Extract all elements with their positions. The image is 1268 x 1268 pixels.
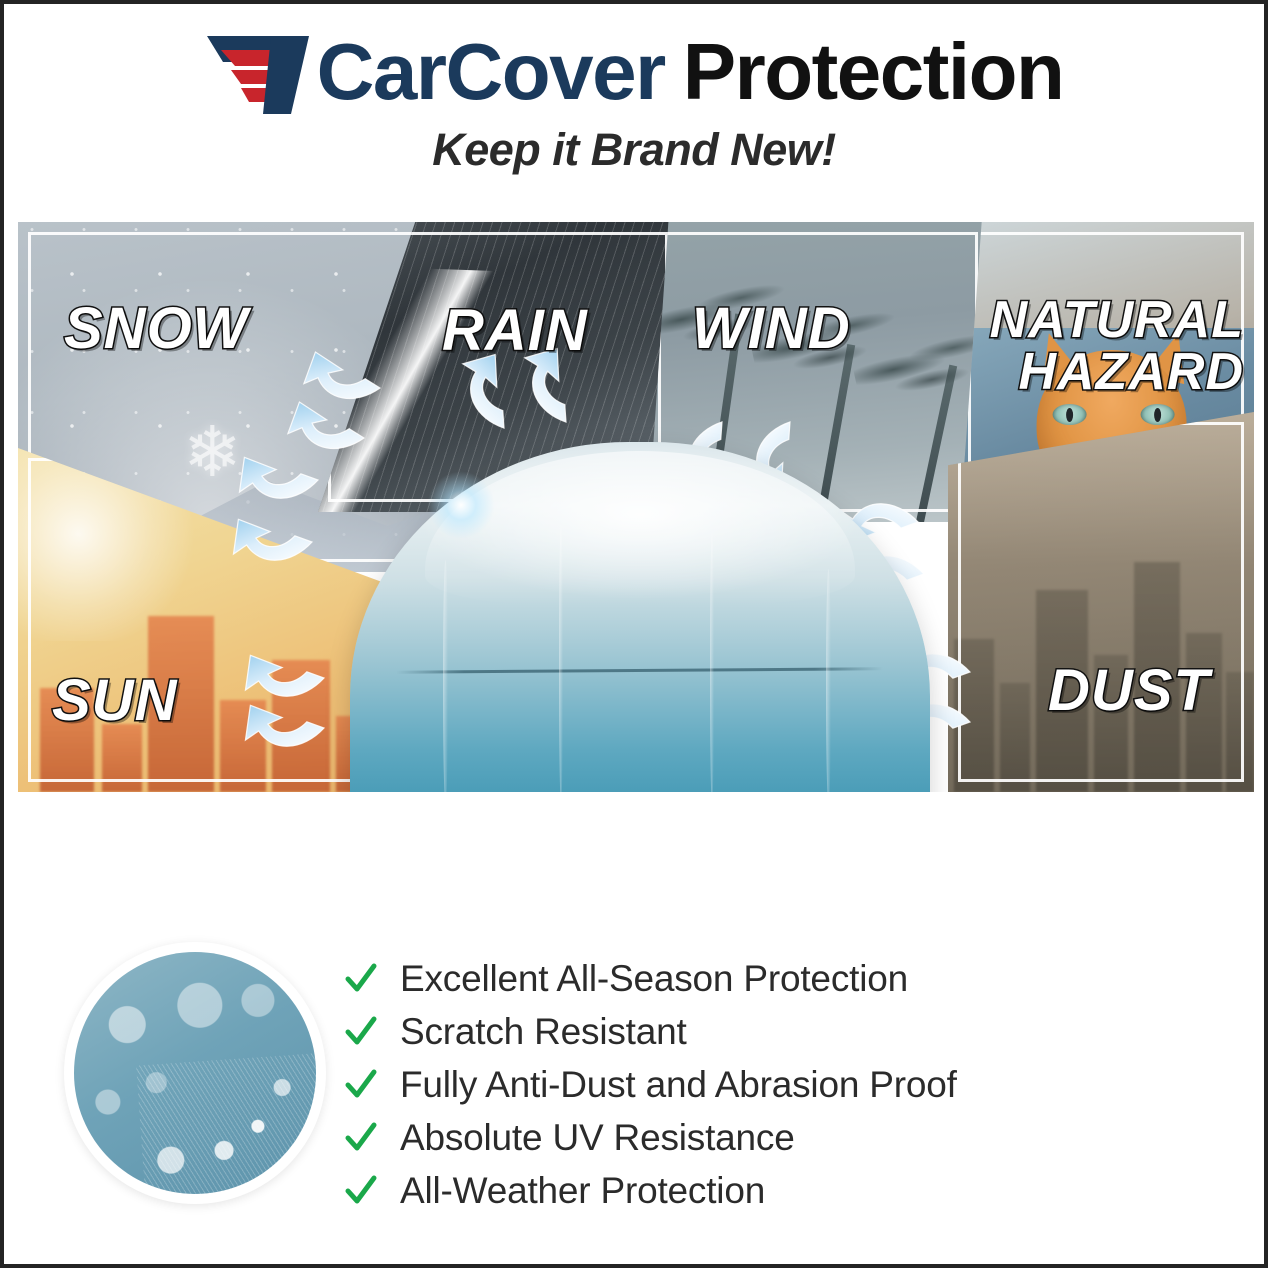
green-checkmark-icon <box>344 1174 378 1208</box>
sparkle-highlight <box>426 470 496 540</box>
panel-label-sun: SUN <box>52 672 177 730</box>
panel-label-line2: HAZARD <box>958 346 1244 398</box>
feature-label: Excellent All-Season Protection <box>400 960 908 997</box>
panel-label-dust: DUST <box>1048 662 1210 720</box>
car-cover-roof <box>425 451 854 605</box>
snowflake-icon: ❄ <box>183 417 242 487</box>
panel-label-wind: WIND <box>692 300 851 358</box>
feature-label: Fully Anti-Dust and Abrasion Proof <box>400 1066 957 1103</box>
fabric-weave-texture <box>136 1051 316 1194</box>
brand-lockup: CarCover Protection <box>4 26 1264 118</box>
panel-label-line1: NATURAL <box>958 294 1244 346</box>
hazard-collage: ❄ <box>18 222 1254 792</box>
green-checkmark-icon <box>344 962 378 996</box>
list-item: Scratch Resistant <box>344 1005 1224 1058</box>
feature-label: Absolute UV Resistance <box>400 1119 795 1156</box>
feature-label: All-Weather Protection <box>400 1172 765 1209</box>
dust-haze-overlay <box>948 412 1254 792</box>
carcover-wing-logo-icon <box>205 30 317 114</box>
panel-label-snow: SNOW <box>64 300 248 358</box>
panel-label-natural-hazard: NATURAL HAZARD <box>958 294 1244 398</box>
green-checkmark-icon <box>344 1068 378 1102</box>
benefits-section: Excellent All-Season Protection Scratch … <box>4 804 1264 1254</box>
feature-list: Excellent All-Season Protection Scratch … <box>344 952 1224 1217</box>
list-item: Absolute UV Resistance <box>344 1111 1224 1164</box>
tagline: Keep it Brand New! <box>4 124 1264 176</box>
infographic-page: CarCover Protection Keep it Brand New! ❄ <box>0 0 1268 1268</box>
cat-eye-left <box>1053 404 1087 425</box>
header: CarCover Protection Keep it Brand New! <box>4 26 1264 176</box>
list-item: Excellent All-Season Protection <box>344 952 1224 1005</box>
brand-word: Protection <box>683 32 1064 112</box>
car-cover-icon <box>330 422 950 792</box>
panel-dust <box>948 412 1254 792</box>
swatch-image <box>74 952 316 1194</box>
list-item: Fully Anti-Dust and Abrasion Proof <box>344 1058 1224 1111</box>
green-checkmark-icon <box>344 1015 378 1049</box>
list-item: All-Weather Protection <box>344 1164 1224 1217</box>
brand-name: CarCover <box>317 32 665 112</box>
car-cover-seam <box>396 667 883 673</box>
feature-label: Scratch Resistant <box>400 1013 687 1050</box>
green-checkmark-icon <box>344 1121 378 1155</box>
cat-eye-right <box>1141 404 1175 425</box>
water-beading-fabric-swatch <box>64 942 326 1204</box>
panel-label-rain: RAIN <box>442 302 588 360</box>
